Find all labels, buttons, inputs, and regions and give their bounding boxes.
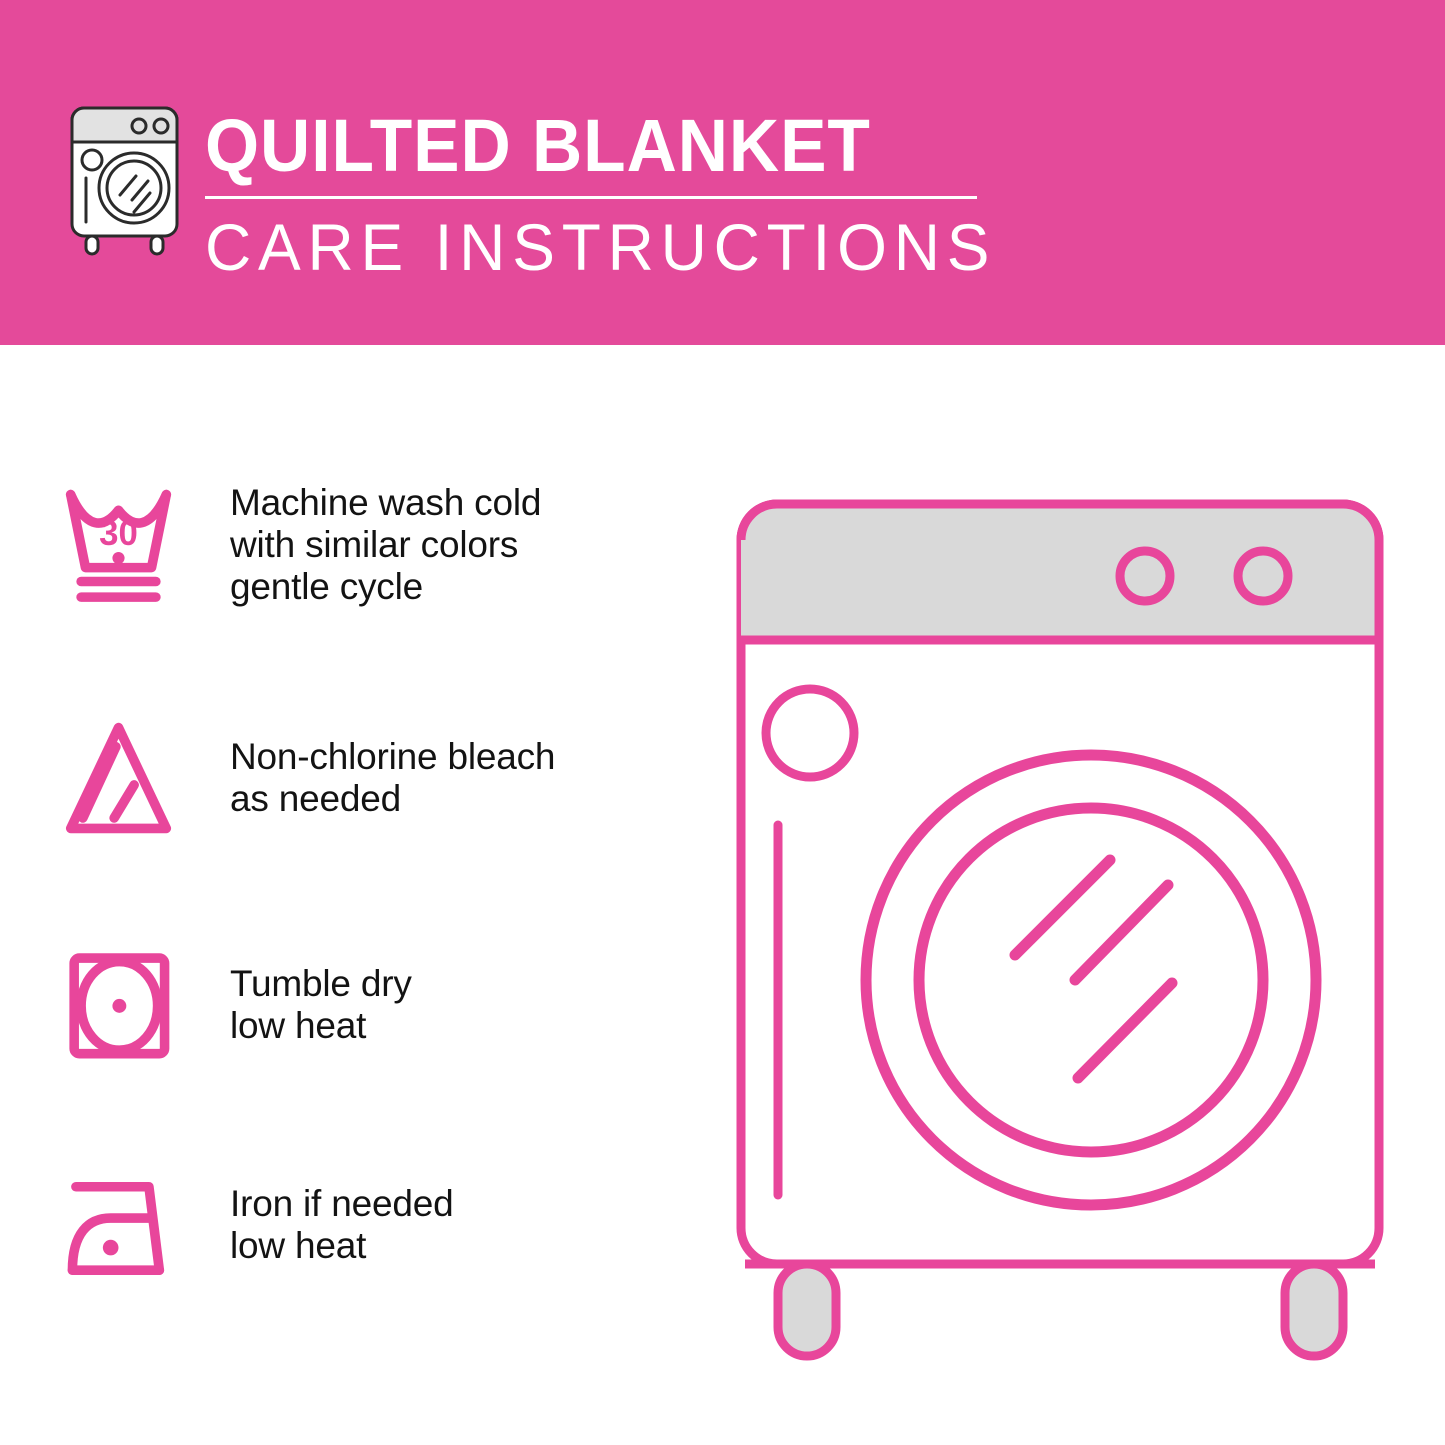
front-load-washing-machine-illustration <box>720 480 1400 1370</box>
care-instructions-infographic: QUILTED BLANKET CARE INSTRUCTIONS 30 <box>0 0 1445 1445</box>
care-row-bleach: Non-chlorine bleach as needed <box>0 708 700 848</box>
care-text-tumble-dry: Tumble dry low heat <box>175 963 412 1047</box>
door-inner-ring <box>919 808 1263 1152</box>
care-line: Tumble dry <box>230 963 412 1005</box>
care-text-bleach: Non-chlorine bleach as needed <box>175 736 555 820</box>
leg-left <box>778 1264 836 1356</box>
care-line: Machine wash cold <box>230 482 541 524</box>
wash-temperature-value: 30 <box>99 515 138 553</box>
detergent-dial <box>766 689 854 777</box>
header-band: QUILTED BLANKET CARE INSTRUCTIONS <box>0 0 1445 345</box>
care-line: with similar colors <box>230 524 541 566</box>
care-line: as needed <box>230 778 555 820</box>
care-line: gentle cycle <box>230 566 541 608</box>
knob-right <box>1238 551 1288 601</box>
care-row-machine-wash: 30 Machine wash cold with similar colors… <box>0 475 700 615</box>
iron-low-heat-icon <box>0 1155 175 1295</box>
page-subtitle: CARE INSTRUCTIONS <box>205 211 971 283</box>
care-text-iron: Iron if needed low heat <box>175 1183 453 1267</box>
bleach-triangle-non-chlorine-icon <box>0 708 175 848</box>
page-title: QUILTED BLANKET <box>205 104 948 188</box>
care-line: low heat <box>230 1225 453 1267</box>
wash-tub-30-gentle-icon: 30 <box>0 475 175 615</box>
washing-machine-icon <box>62 100 192 260</box>
care-instructions-list: 30 Machine wash cold with similar colors… <box>0 345 700 1445</box>
care-row-tumble-dry: Tumble dry low heat <box>0 935 700 1075</box>
care-line: Iron if needed <box>230 1183 453 1225</box>
care-line: low heat <box>230 1005 412 1047</box>
leg-right <box>1285 1264 1343 1356</box>
care-text-machine-wash: Machine wash cold with similar colors ge… <box>175 482 541 608</box>
care-row-iron: Iron if needed low heat <box>0 1155 700 1295</box>
knob-left <box>1120 551 1170 601</box>
title-divider <box>205 196 977 199</box>
care-line: Non-chlorine bleach <box>230 736 555 778</box>
tumble-dry-low-heat-icon <box>0 935 175 1075</box>
header-text-block: QUILTED BLANKET CARE INSTRUCTIONS <box>205 104 995 283</box>
